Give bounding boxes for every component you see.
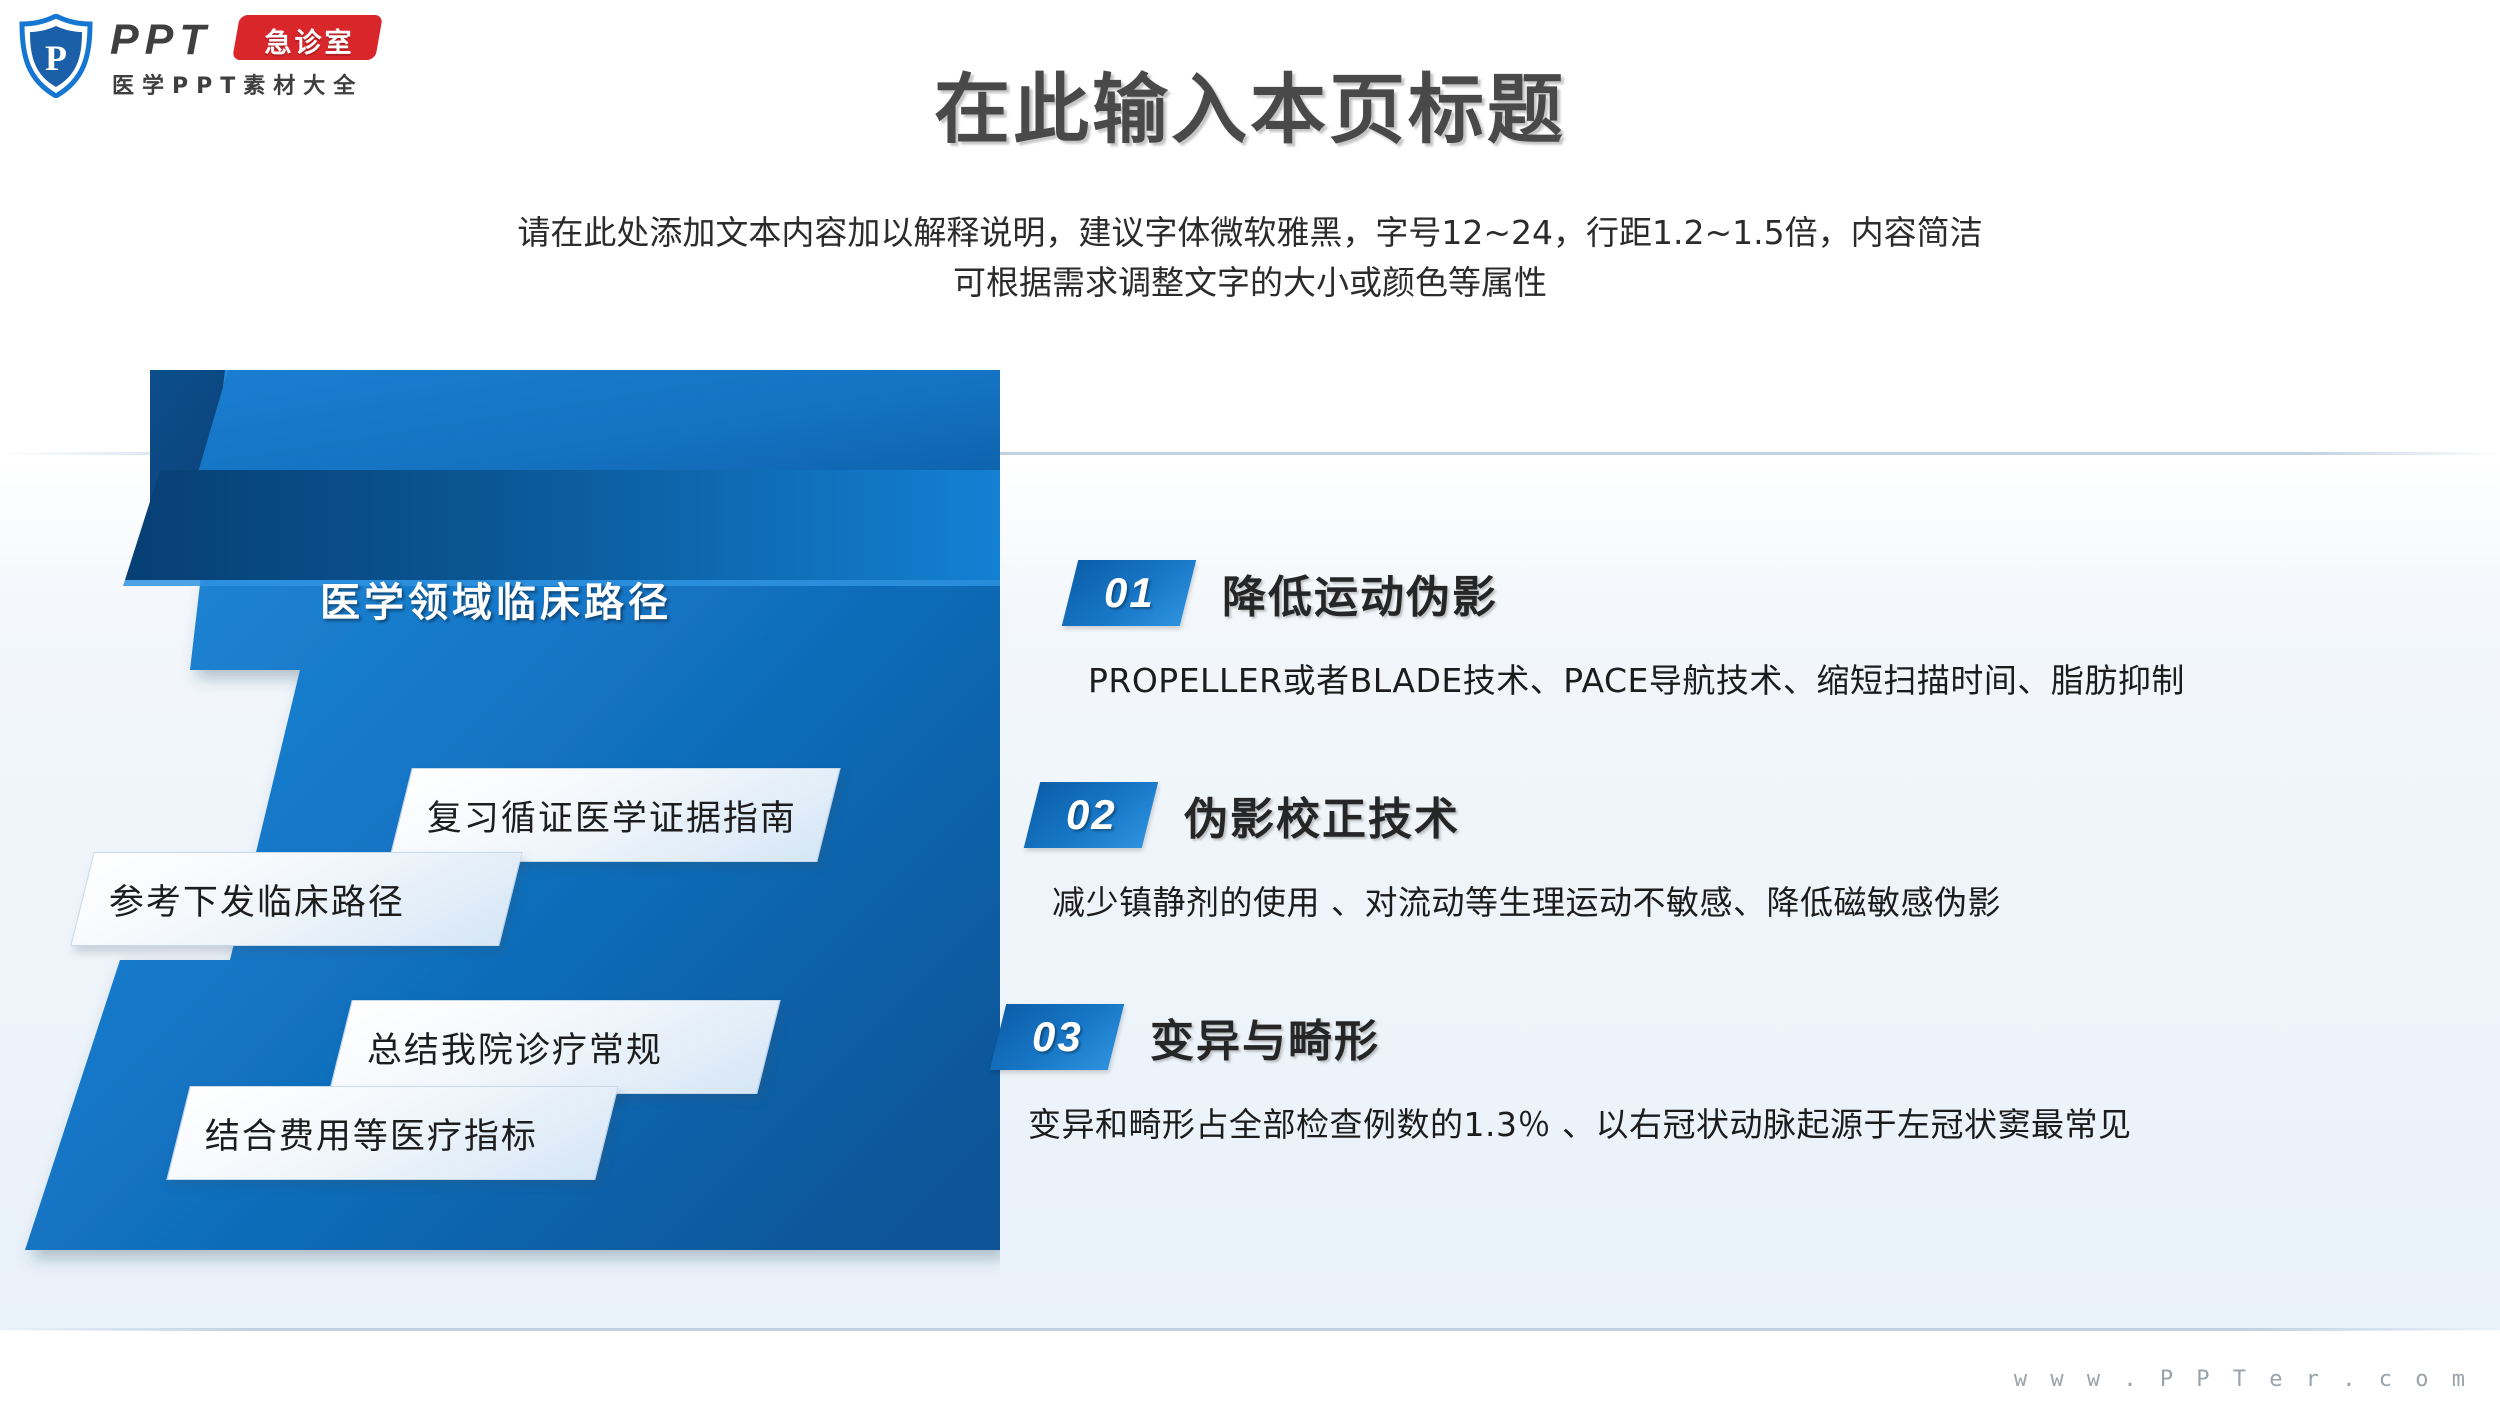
slide-canvas: P PPT 急诊室 医学PPT素材大全 在此输入本页标题 请在此处添加文本内容加…: [0, 0, 2500, 1406]
feature-number-badge-3: 03: [990, 1004, 1124, 1070]
feature-body-3: 变异和畸形占全部检查例数的1.3％ 、以右冠状动脉起源于左冠状窦最常见: [1028, 1098, 2450, 1146]
feature-number-2: 02: [1066, 791, 1117, 839]
feature-body-2: 减少镇静剂的使用 、对流动等生理运动不敏感、降低磁敏感伪影: [1052, 876, 2450, 924]
feature-item-2-head: 02 伪影校正技术: [1070, 782, 2450, 848]
feature-body-1: PROPELLER或者BLADE技术、PACE导航技术、缩短扫描时间、脂肪抑制: [1088, 654, 2450, 702]
step-box-2[interactable]: 参考下发临床路径: [70, 852, 522, 946]
feature-title-2: 伪影校正技术: [1184, 783, 1460, 847]
feature-item-1: 01 降低运动伪影 PROPELLER或者BLADE技术、PACE导航技术、缩短…: [1070, 560, 2450, 702]
ribbon-banner-band: [125, 470, 1000, 580]
feature-number-badge-1: 01: [1062, 560, 1196, 626]
step-box-4[interactable]: 结合费用等医疗指标: [166, 1086, 618, 1180]
feature-number-badge-2: 02: [1024, 782, 1158, 848]
banner-label: 医学领域临床路径: [320, 570, 672, 628]
step-box-1[interactable]: 复习循证医学证据指南: [388, 768, 840, 862]
feature-item-2: 02 伪影校正技术 减少镇静剂的使用 、对流动等生理运动不敏感、降低磁敏感伪影: [1070, 782, 2450, 924]
feature-item-3: 03 变异与畸形 变异和畸形占全部检查例数的1.3％ 、以右冠状动脉起源于左冠状…: [1070, 1004, 2450, 1146]
step-label-2: 参考下发临床路径: [109, 874, 405, 925]
page-subtitle-line-2: 可根据需求调整文字的大小或颜色等属性: [0, 258, 2500, 308]
step-label-1: 复习循证医学证据指南: [427, 790, 797, 841]
feature-item-1-head: 01 降低运动伪影: [1070, 560, 2450, 626]
footer-watermark: w w w . P P T e r . c o m: [2014, 1367, 2470, 1392]
step-box-3[interactable]: 总结我院诊疗常规: [328, 1000, 780, 1094]
feature-title-3: 变异与畸形: [1150, 1005, 1380, 1069]
feature-item-3-head: 03 变异与畸形: [1070, 1004, 2450, 1070]
feature-title-1: 降低运动伪影: [1222, 561, 1498, 625]
step-label-3: 总结我院诊疗常规: [367, 1022, 663, 1073]
feature-list: 01 降低运动伪影 PROPELLER或者BLADE技术、PACE导航技术、缩短…: [1070, 560, 2450, 1226]
panel-bottom-edge: [0, 1328, 2500, 1331]
page-title: 在此输入本页标题: [0, 48, 2500, 158]
page-subtitle-line-1: 请在此处添加文本内容加以解释说明，建议字体微软雅黑，字号12~24，行距1.2~…: [0, 208, 2500, 258]
page-subtitle: 请在此处添加文本内容加以解释说明，建议字体微软雅黑，字号12~24，行距1.2~…: [0, 208, 2500, 308]
feature-number-1: 01: [1104, 569, 1155, 617]
step-label-4: 结合费用等医疗指标: [205, 1108, 538, 1159]
feature-number-3: 03: [1032, 1013, 1083, 1061]
